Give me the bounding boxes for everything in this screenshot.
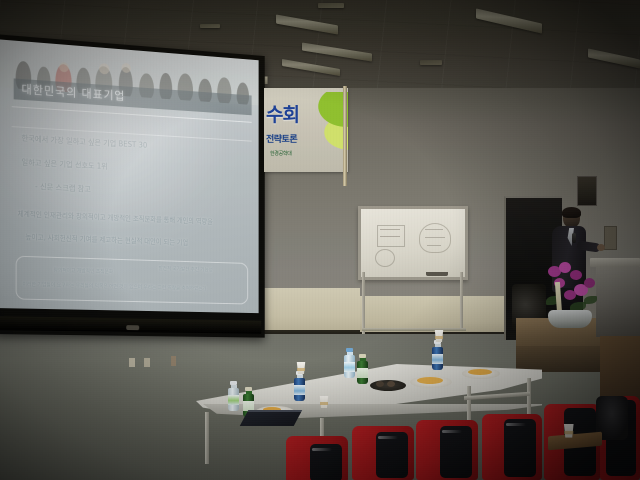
slide-callout-line: 이러한 기업들이 요구하는 우리들의 덕목은 어떤 것이 있으며 우리는 그런 … (22, 281, 206, 292)
whiteboard-stand-leg (362, 272, 365, 334)
slide-callout-box: 창의적이고 개방적인 조직문화 발전적 국가발전 추진 가능성 이러한 기업들이… (16, 256, 249, 305)
ceiling-light-fixture (200, 24, 220, 28)
conference-room-photo: 대한민국의 대표기업 한국에서 가장 일하고 싶은 기업 BEST 30 일하고… (0, 0, 640, 480)
whiteboard-writing (425, 229, 443, 230)
whiteboard-stand-crossbar (362, 328, 466, 331)
banner-subhead: 전략토론 (266, 132, 297, 145)
wall-banner: 수회 전략토론 한경공학대 (264, 88, 348, 172)
seat-highlight (442, 430, 462, 433)
bottle-label (344, 362, 355, 372)
flower-basket-wrap (548, 310, 592, 328)
bottle-label (357, 368, 368, 378)
seat-highlight (312, 448, 332, 451)
flower-bloom (564, 290, 576, 300)
presenter-hand (597, 244, 605, 251)
slide-body: 한국에서 가장 일하고 싶은 기업 BEST 30 일하고 싶은 기업 선호도 … (12, 132, 250, 258)
presenter-hair (562, 207, 581, 218)
snack-item (468, 369, 492, 375)
whiteboard-writing (427, 245, 441, 246)
whiteboard-writing (375, 249, 395, 267)
banner-swoosh-logo (298, 92, 348, 164)
auditorium-seat[interactable] (352, 426, 414, 480)
whiteboard-marker-tray (426, 272, 448, 276)
snack-item (376, 381, 384, 387)
screen-frame: 대한민국의 대표기업 한국에서 가장 일하고 싶은 기업 BEST 30 일하고… (0, 34, 265, 338)
paper-cup-band (297, 368, 305, 371)
whiteboard-writing (380, 236, 400, 237)
wall-panel (604, 226, 617, 250)
slide-callout-line: 창의적이고 개방적인 조직문화 (53, 267, 113, 276)
black-folder[interactable] (240, 410, 303, 426)
whiteboard[interactable] (358, 206, 468, 280)
screen-surface: 대한민국의 대표기업 한국에서 가장 일하고 싶은 기업 BEST 30 일하고… (0, 39, 259, 313)
paper-cup-band (320, 402, 328, 405)
slide-bullet-line: - 신문 스크랩 참고 (35, 181, 250, 202)
banner-footnote: 한경공학대 (270, 150, 292, 157)
table-leg (527, 378, 531, 416)
hero-figure-head (122, 63, 131, 73)
slide-bullet-line: 한국에서 가장 일하고 싶은 기업 BEST 30 (21, 133, 249, 157)
table-leg (205, 412, 209, 464)
lectern (596, 264, 640, 337)
slide-bullet-line: 체계적인 인재관리와 창의적이고 개방적인 조직문화를 통해 개인의 역량을 (18, 208, 250, 227)
snack-item (417, 377, 443, 384)
flower-bloom (584, 278, 595, 288)
projection-screen: 대한민국의 대표기업 한국에서 가장 일하고 싶은 기업 BEST 30 일하고… (0, 34, 296, 352)
flower-basket (540, 262, 602, 328)
seat-highlight (378, 436, 398, 439)
screen-pull-handle[interactable] (126, 325, 139, 330)
auditorium-seat[interactable] (286, 436, 348, 480)
seat-highlight (506, 423, 526, 426)
slide-bullet-line: 높이고, 사회헌신적 기여를 제고하는 현실적 대안이 되는 기업 (25, 231, 250, 249)
slide-callout-line: 발전적 국가발전 추진 가능성 (159, 265, 213, 273)
flower-bloom (559, 262, 571, 273)
whiteboard-writing (425, 237, 445, 238)
ceiling-light-fixture (420, 60, 442, 65)
hero-figure-head (59, 62, 69, 73)
seat-headrest-pad (504, 419, 536, 477)
flower-leaf (584, 296, 597, 304)
whiteboard-writing (419, 223, 451, 253)
paper-cup-band (564, 431, 573, 434)
whiteboard-stand-leg (460, 272, 463, 330)
wall-outlet (144, 358, 150, 367)
banner-hanging-pole (343, 86, 347, 186)
auditorium-seat[interactable] (482, 414, 542, 480)
ceiling-light-fixture (318, 3, 344, 8)
paper-cup-band (435, 336, 443, 339)
slide-bullet-line: 일하고 싶은 기업 선호도 1위 (21, 156, 249, 179)
wall-outlet (129, 358, 135, 367)
snack-item (387, 381, 395, 387)
flower-bloom (570, 270, 582, 280)
auditorium-seat[interactable] (416, 420, 478, 480)
wall-outlet (171, 356, 176, 366)
microphone (572, 233, 576, 243)
bottle-label (294, 385, 305, 395)
bottle-label (228, 395, 239, 405)
hero-figure-head (99, 63, 109, 75)
bottle-label (432, 354, 443, 364)
projected-slide: 대한민국의 대표기업 한국에서 가장 일하고 싶은 기업 BEST 30 일하고… (0, 39, 259, 313)
banner-headline: 수회 (266, 100, 299, 127)
whiteboard-writing (380, 229, 400, 230)
seat-headrest-pad (440, 426, 472, 478)
wall-loudspeaker (577, 176, 597, 206)
